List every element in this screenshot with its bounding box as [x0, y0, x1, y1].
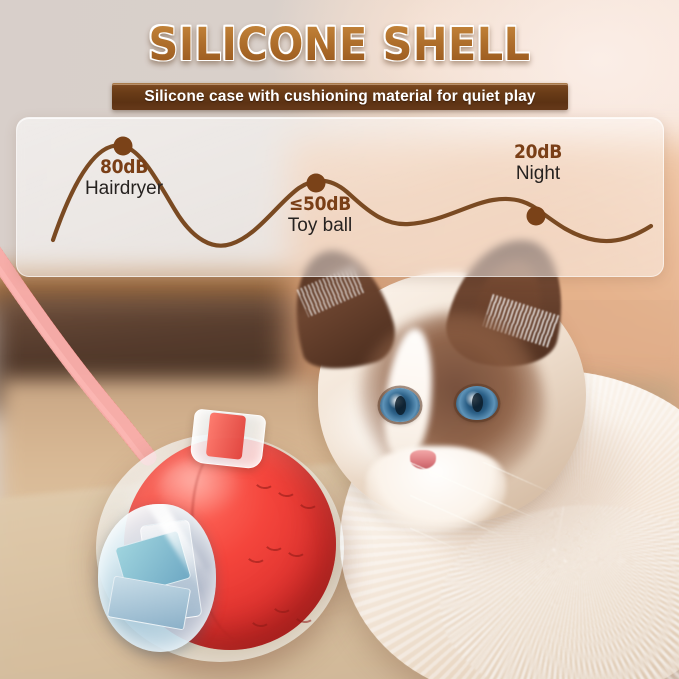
- subtitle-text: Silicone case with cushioning material f…: [144, 88, 535, 106]
- noise-point-marker-0: [114, 137, 133, 156]
- noise-db-value: ≤50dB: [263, 195, 376, 215]
- noise-db-value: 20dB: [481, 143, 594, 163]
- ball-transparent-window: [98, 504, 216, 652]
- toy-ball: [96, 418, 348, 663]
- noise-db-value: 80dB: [67, 158, 180, 178]
- cat-pupil-right: [472, 393, 483, 412]
- noise-source-name: Hairdryer: [61, 179, 187, 199]
- noise-label-toy-ball: ≤50dB Toy ball: [257, 195, 383, 236]
- subtitle-banner: Silicone case with cushioning material f…: [112, 83, 568, 110]
- cat-pupil-left: [395, 396, 406, 415]
- ball-collar-insert: [206, 412, 246, 460]
- noise-source-name: Toy ball: [257, 216, 383, 236]
- page-title: SILICONE SHELL: [27, 18, 652, 71]
- cat-photo: [300, 250, 679, 679]
- noise-comparison-panel: 80dB Hairdryer ≤50dB Toy ball 20dB Night: [16, 117, 664, 277]
- noise-point-marker-1: [307, 174, 326, 193]
- noise-source-name: Night: [475, 164, 601, 184]
- noise-label-hairdryer: 80dB Hairdryer: [61, 158, 187, 199]
- cat-whiskers: [410, 462, 670, 612]
- product-marketing-image: SILICONE SHELL Silicone case with cushio…: [0, 0, 679, 679]
- noise-label-night: 20dB Night: [475, 143, 601, 184]
- noise-point-marker-2: [527, 207, 546, 226]
